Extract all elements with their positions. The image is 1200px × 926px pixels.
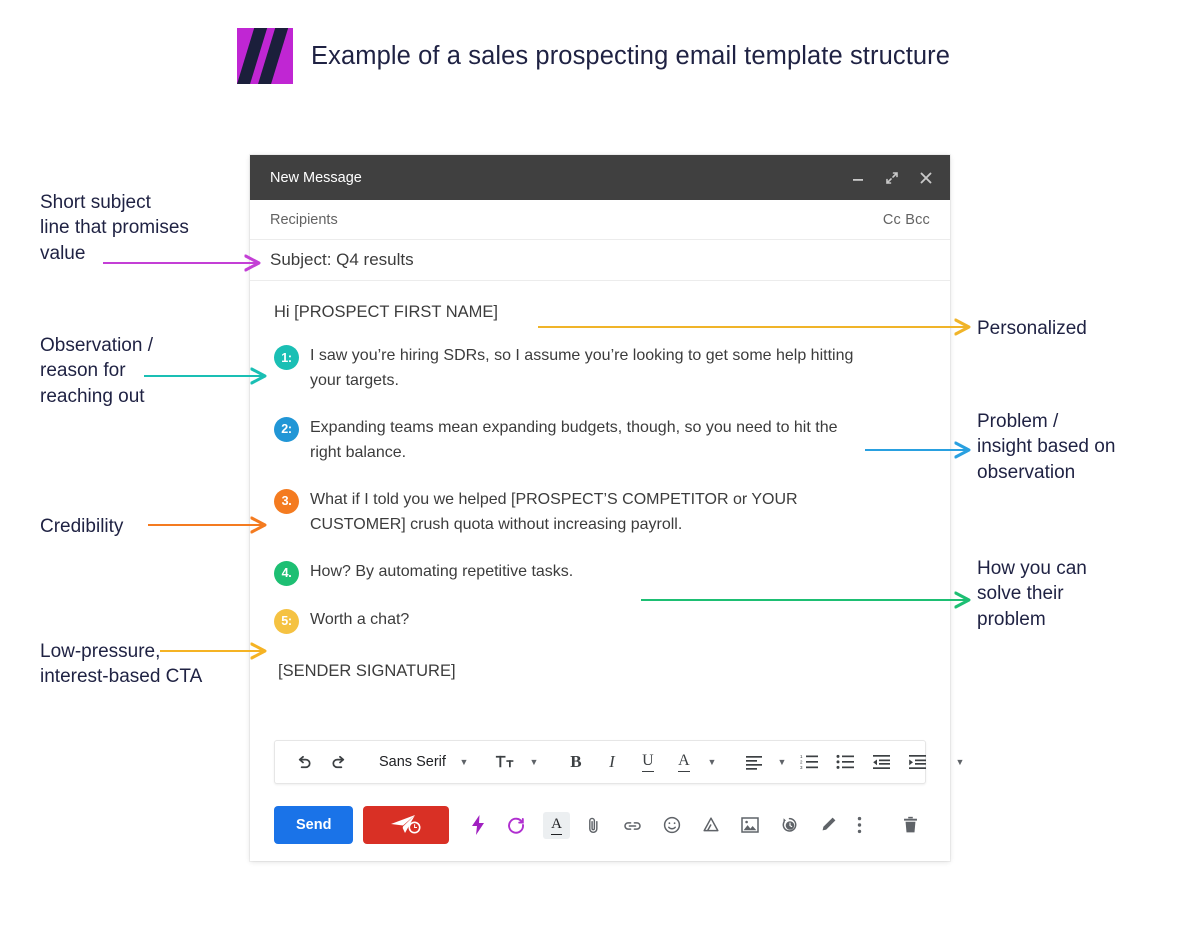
chevron-down-icon[interactable]: ▼ xyxy=(524,747,544,777)
insert-drive-icon[interactable] xyxy=(695,809,726,841)
sync-icon[interactable] xyxy=(500,809,531,841)
insert-link-icon[interactable] xyxy=(617,809,648,841)
bullet-marker-2: 2: xyxy=(274,417,299,442)
bullet-marker-1: 1: xyxy=(274,345,299,370)
subject-row[interactable]: Subject: Q4 results xyxy=(250,240,950,281)
close-icon[interactable] xyxy=(918,170,934,186)
align-icon[interactable] xyxy=(736,747,772,777)
chevron-down-icon[interactable]: ▼ xyxy=(772,747,792,777)
brand-logo-icon xyxy=(237,28,293,84)
chevron-down-icon[interactable]: ▼ xyxy=(702,747,722,777)
annotation-problem-insight: Problem / insight based on observation xyxy=(977,409,1187,485)
bold-icon[interactable]: B xyxy=(558,747,594,777)
annotation-subject-line: Short subject line that promises value xyxy=(40,190,240,266)
annotation-solve-problem: How you can solve their problem xyxy=(977,556,1177,632)
font-family-select[interactable]: Sans Serif xyxy=(371,754,454,770)
bullet-text-4: How? By automating repetitive tasks. xyxy=(310,560,573,585)
insert-signature-icon[interactable] xyxy=(813,809,844,841)
list-item: 2: Expanding teams mean expanding budget… xyxy=(274,416,930,466)
bullet-text-1: I saw you’re hiring SDRs, so I assume yo… xyxy=(310,344,870,394)
list-item: 3. What if I told you we helped [PROSPEC… xyxy=(274,488,930,538)
cc-bcc-toggle[interactable]: Cc Bcc xyxy=(883,212,930,228)
svg-text:3: 3 xyxy=(800,765,803,770)
schedule-send-button[interactable] xyxy=(363,806,449,844)
format-toolbar: Sans Serif ▼ ▼ B I U A ▼ ▼ xyxy=(274,740,926,784)
annotation-credibility: Credibility xyxy=(40,514,210,539)
redo-icon[interactable] xyxy=(321,747,357,777)
attach-file-icon[interactable] xyxy=(578,809,609,841)
annotation-personalized: Personalized xyxy=(977,316,1177,341)
email-body[interactable]: Hi [PROSPECT FIRST NAME] 1: I saw you’re… xyxy=(250,281,950,681)
discard-draft-icon[interactable] xyxy=(895,809,926,841)
font-size-icon[interactable] xyxy=(488,747,524,777)
annotation-observation: Observation / reason for reaching out xyxy=(40,333,230,409)
expand-icon[interactable] xyxy=(884,170,900,186)
insert-emoji-icon[interactable] xyxy=(656,809,687,841)
more-format-icon[interactable]: ▼ xyxy=(950,747,970,777)
bullet-marker-4: 4. xyxy=(274,561,299,586)
email-compose-window: New Message Recipients Cc Bcc Subje xyxy=(250,155,950,861)
bulleted-list-icon[interactable] xyxy=(828,747,864,777)
recipients-placeholder: Recipients xyxy=(270,212,883,228)
numbered-list-icon[interactable]: 1 2 3 xyxy=(792,747,828,777)
page-header: Example of a sales prospecting email tem… xyxy=(237,28,950,84)
bullet-marker-5: 5: xyxy=(274,609,299,634)
confidential-mode-icon[interactable] xyxy=(773,809,804,841)
signature-placeholder: [SENDER SIGNATURE] xyxy=(278,662,930,681)
compose-titlebar: New Message xyxy=(250,155,950,200)
recipients-row[interactable]: Recipients Cc Bcc xyxy=(250,200,950,240)
svg-text:1: 1 xyxy=(800,754,803,759)
indent-more-icon[interactable] xyxy=(900,747,936,777)
insert-photo-icon[interactable] xyxy=(734,809,765,841)
bullet-text-2: Expanding teams mean expanding budgets, … xyxy=(310,416,870,466)
compose-title: New Message xyxy=(270,170,850,186)
minimize-icon[interactable] xyxy=(850,170,866,186)
undo-icon[interactable] xyxy=(285,747,321,777)
page-root: Example of a sales prospecting email tem… xyxy=(0,0,1200,926)
bullet-text-3: What if I told you we helped [PROSPECT’S… xyxy=(310,488,870,538)
bullet-marker-3: 3. xyxy=(274,489,299,514)
text-color-icon[interactable]: A xyxy=(666,747,702,777)
page-title: Example of a sales prospecting email tem… xyxy=(311,42,950,71)
underline-icon[interactable]: U xyxy=(630,747,666,777)
annotation-cta: Low-pressure, interest-based CTA xyxy=(40,639,255,690)
compose-action-bar: Send A xyxy=(274,803,926,847)
list-item: 5: Worth a chat? xyxy=(274,608,930,634)
bullet-text-5: Worth a chat? xyxy=(310,608,409,633)
list-item: 4. How? By automating repetitive tasks. xyxy=(274,560,930,586)
chevron-down-icon[interactable]: ▼ xyxy=(454,747,474,777)
formatting-icon[interactable]: A xyxy=(543,812,569,839)
list-item: 1: I saw you’re hiring SDRs, so I assume… xyxy=(274,344,930,394)
more-options-icon[interactable] xyxy=(844,809,875,841)
lightning-icon[interactable] xyxy=(463,809,494,841)
italic-icon[interactable]: I xyxy=(594,747,630,777)
indent-less-icon[interactable] xyxy=(864,747,900,777)
svg-text:2: 2 xyxy=(800,760,803,765)
subject-value: Subject: Q4 results xyxy=(270,250,414,270)
greeting-line: Hi [PROSPECT FIRST NAME] xyxy=(274,303,930,322)
send-button[interactable]: Send xyxy=(274,806,353,844)
